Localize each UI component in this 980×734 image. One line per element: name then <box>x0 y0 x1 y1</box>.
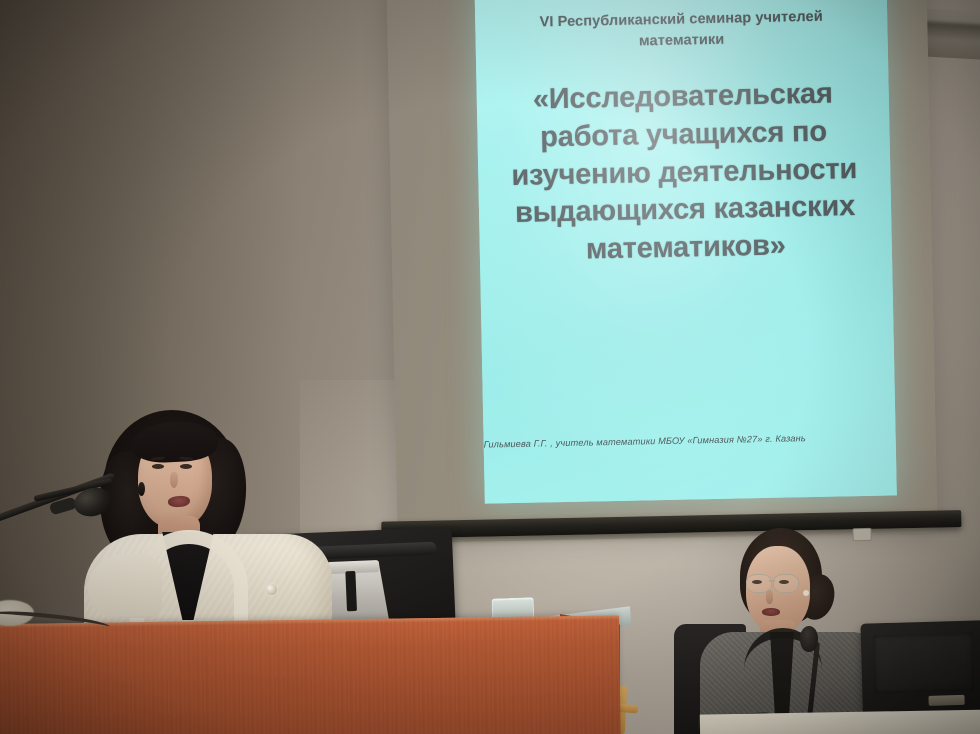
moderator-mouth <box>762 608 780 616</box>
projection-screen: VI Республиканский семинар учителей мате… <box>386 0 937 543</box>
speaker-brooch <box>266 584 277 595</box>
speaker-earring <box>138 482 145 496</box>
slide-title: «Исследовательская работа учащихся по из… <box>492 75 876 271</box>
microphone-table-head <box>800 626 818 652</box>
moderator-earring <box>803 590 809 596</box>
monitor-right-panel <box>873 633 975 694</box>
presentation-photo-scene: VI Республиканский семинар учителей мате… <box>0 0 980 734</box>
slide-header: VI Республиканский семинар учителей мате… <box>501 6 862 54</box>
slide-title-line-4: выдающихся казанских <box>495 188 876 233</box>
speaker-eye-left <box>152 464 164 469</box>
monitor-center-stand-slot <box>345 571 357 611</box>
eyeglasses-bridge <box>769 580 775 582</box>
slide-title-line-5: математиков» <box>495 226 876 271</box>
podium-wood-grain <box>0 615 621 734</box>
moderator-nose <box>766 590 773 604</box>
speaker-eye-right <box>180 464 192 469</box>
wooden-lectern <box>0 615 621 734</box>
speaker-shoulder-left <box>88 554 162 618</box>
projected-slide: VI Республиканский семинар учителей мате… <box>475 0 897 504</box>
eyeglasses-lens-right <box>773 574 799 593</box>
speaker-nose <box>170 472 178 488</box>
table-right <box>700 709 980 734</box>
monitor-right-brand-label <box>928 695 964 706</box>
